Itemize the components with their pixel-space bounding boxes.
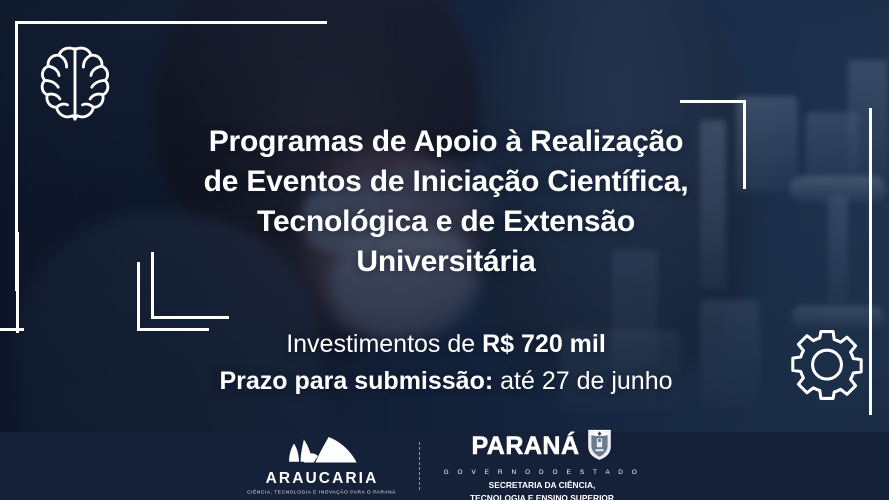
brain-icon [33, 41, 117, 125]
deadline-label: Prazo para submissão: [219, 367, 493, 395]
footer-logo-bar: ARAUCARIA CIÊNCIA, TECNOLOGIA E INOVAÇÃO… [0, 432, 889, 500]
subtitle-block: Investimentos de R$ 720 mil Prazo para s… [96, 326, 796, 400]
investment-line: Investimentos de R$ 720 mil [96, 326, 796, 363]
araucaria-tagline: CIÊNCIA, TECNOLOGIA E INOVAÇÃO PARA O PA… [248, 488, 397, 496]
araucaria-wordmark: ARAUCARIA [266, 471, 379, 487]
title-line-2: de Eventos de Iniciação Científica, [96, 162, 796, 202]
parana-coat-of-arms-icon [586, 429, 613, 465]
title-line-4: Universitária [96, 242, 796, 282]
frame-line-right [869, 108, 872, 415]
investment-amount: R$ 720 mil [482, 330, 606, 358]
frame-dash-left [0, 328, 24, 331]
parana-government-label: G O V E R N O D O E S T A D O [444, 468, 641, 477]
frame-line-left [16, 232, 19, 333]
parana-government-logo: PARANÁ G O V E R N O D O E [442, 429, 642, 500]
araucaria-logo: ARAUCARIA CIÊNCIA, TECNOLOGIA E INOVAÇÃO… [247, 437, 397, 495]
investment-label: Investimentos de [286, 330, 482, 358]
promotional-banner: Programas de Apoio à Realização de Event… [0, 0, 889, 500]
araucaria-tree-mark [284, 437, 360, 470]
parana-secretariat-line-1: SECRETARIA DA CIÊNCIA, [489, 480, 596, 491]
page-title: Programas de Apoio à Realização de Event… [96, 122, 796, 282]
deadline-value: até 27 de junho [493, 367, 672, 395]
gear-icon [789, 327, 865, 403]
logo-divider [419, 442, 420, 490]
title-line-1: Programas de Apoio à Realização [96, 122, 796, 162]
parana-wordmark: PARANÁ [471, 434, 579, 459]
deadline-line: Prazo para submissão: até 27 de junho [96, 363, 796, 400]
title-line-3: Tecnológica e de Extensão [96, 202, 796, 242]
parana-secretariat-line-2: TECNOLOGIA E ENSINO SUPERIOR [470, 493, 614, 500]
